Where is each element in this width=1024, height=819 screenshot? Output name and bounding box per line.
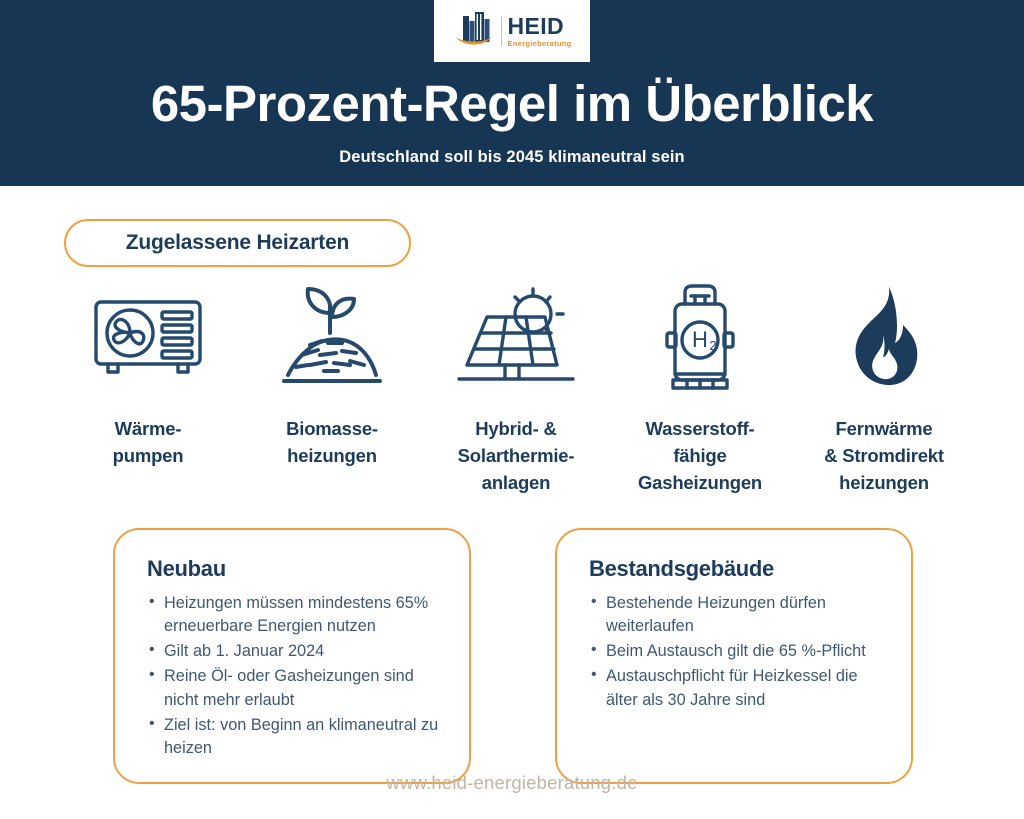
footer-website: www.heid-energieberatung.de xyxy=(0,772,1024,794)
logo-tagline: Energieberatung xyxy=(507,40,571,48)
card-bullet-list: Bestehende Heizungen dürfen weiterlaufen… xyxy=(589,592,887,712)
heating-type-label: Fernwärme & Stromdirekt heizungen xyxy=(824,416,944,496)
building-skyline-icon xyxy=(452,10,496,52)
logo-name: HEID xyxy=(507,15,564,38)
section-pill-label: Zugelassene Heizarten xyxy=(126,231,349,255)
page-title: 65-Prozent-Regel im Überblick xyxy=(0,78,1024,129)
page-subtitle: Deutschland soll bis 2045 klimaneutral s… xyxy=(0,148,1024,167)
list-item: Beim Austausch gilt die 65 %-Pflicht xyxy=(589,640,887,663)
heating-type-label: Wärme- pumpen xyxy=(113,416,184,470)
heating-type-wasserstofffaehige-gasheizungen: H 2 Wasserstoff- fähige Gasheizungen xyxy=(608,282,792,496)
list-item: Bestehende Heizungen dürfen weiterlaufen xyxy=(589,592,887,638)
card-bullet-list: Heizungen müssen mindestens 65% erneuerb… xyxy=(147,592,445,760)
card-title: Bestandsgebäude xyxy=(589,556,887,582)
list-item: Reine Öl- oder Gasheizungen sind nicht m… xyxy=(147,665,445,711)
logo-wordmark: HEID Energieberatung xyxy=(507,15,571,48)
solar-panel-sun-icon xyxy=(457,282,575,392)
list-item: Austauschpflicht für Heizkessel die älte… xyxy=(589,665,887,711)
heating-type-label: Biomasse- heizungen xyxy=(286,416,378,470)
heating-type-label: Hybrid- & Solarthermie- anlagen xyxy=(458,416,575,496)
sprout-in-hands-icon xyxy=(280,282,384,392)
heat-pump-icon xyxy=(90,282,206,392)
list-item: Ziel ist: von Beginn an klimaneutral zu … xyxy=(147,714,445,760)
info-cards: Neubau Heizungen müssen mindestens 65% e… xyxy=(113,528,913,784)
list-item: Heizungen müssen mindestens 65% erneuerb… xyxy=(147,592,445,638)
list-item: Gilt ab 1. Januar 2024 xyxy=(147,640,445,663)
heating-type-waermepumpen: Wärme- pumpen xyxy=(56,282,240,470)
svg-text:2: 2 xyxy=(709,338,716,353)
heating-type-hybrid-solarthermie: Hybrid- & Solarthermie- anlagen xyxy=(424,282,608,496)
logo-divider xyxy=(501,16,502,46)
hydrogen-tank-icon: H 2 xyxy=(661,282,739,392)
section-pill-zugelassene-heizarten: Zugelassene Heizarten xyxy=(64,219,411,267)
card-neubau: Neubau Heizungen müssen mindestens 65% e… xyxy=(113,528,471,784)
svg-text:H: H xyxy=(692,327,708,352)
card-title: Neubau xyxy=(147,556,445,582)
heating-type-biomasseheizungen: Biomasse- heizungen xyxy=(240,282,424,470)
logo: HEID Energieberatung xyxy=(434,0,590,62)
header-band: HEID Energieberatung 65-Prozent-Regel im… xyxy=(0,0,1024,186)
heating-types-row: Wärme- pumpen xyxy=(56,282,976,496)
heating-type-fernwaerme-stromdirekt: Fernwärme & Stromdirekt heizungen xyxy=(792,282,976,496)
infographic-page: HEID Energieberatung 65-Prozent-Regel im… xyxy=(0,0,1024,819)
flame-icon xyxy=(845,282,923,392)
card-bestandsgebaeude: Bestandsgebäude Bestehende Heizungen dür… xyxy=(555,528,913,784)
heating-type-label: Wasserstoff- fähige Gasheizungen xyxy=(638,416,762,496)
